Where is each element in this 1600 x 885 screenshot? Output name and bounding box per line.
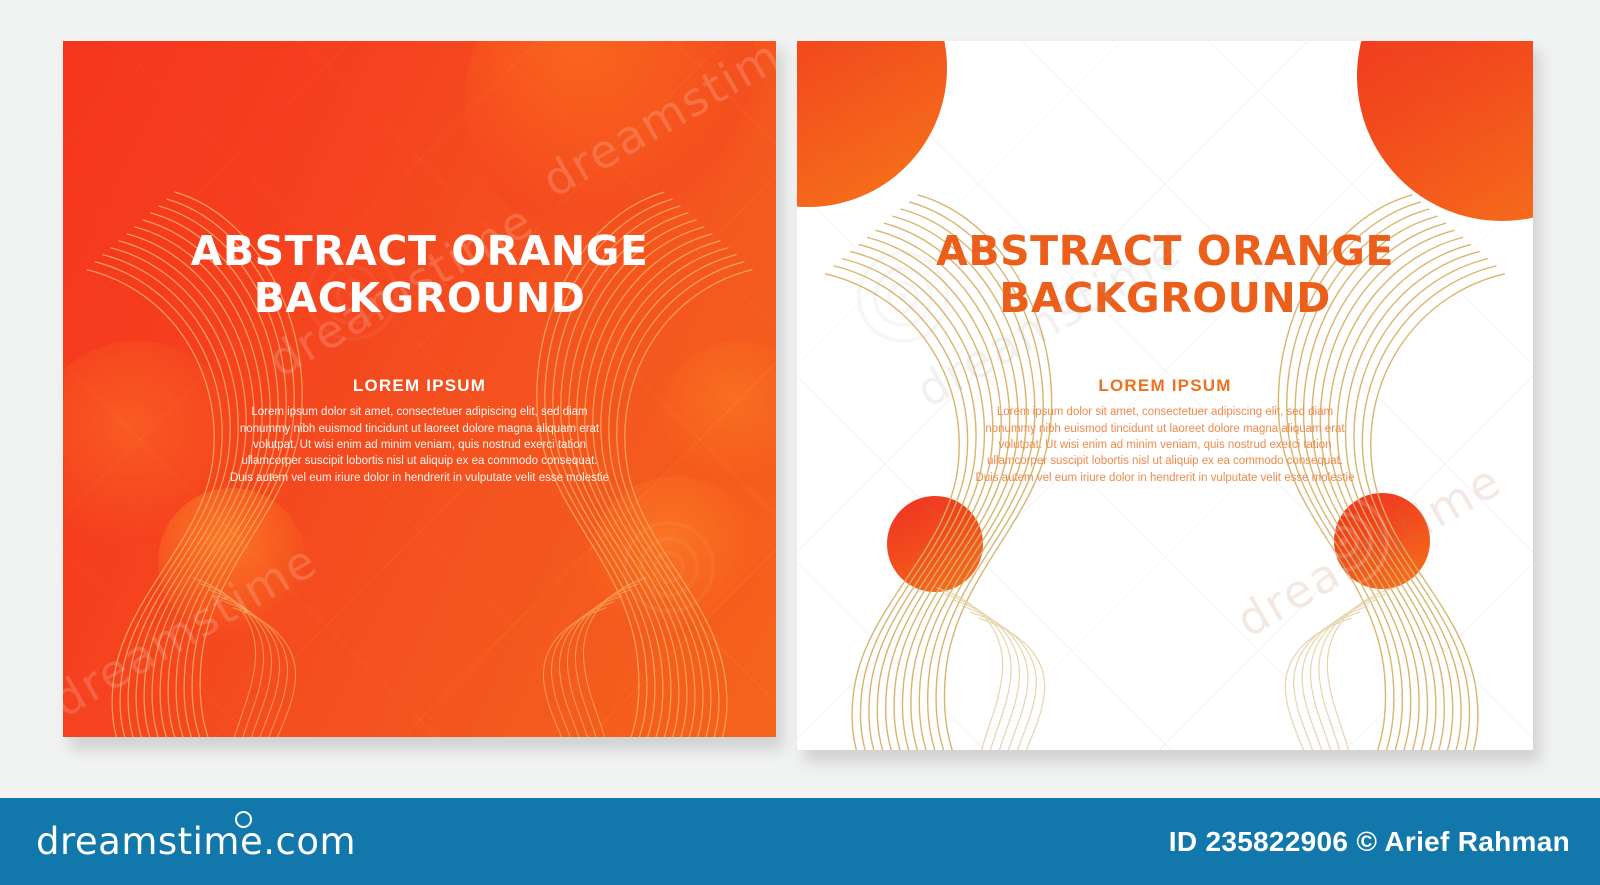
- headline-line-2: BACKGROUND: [63, 275, 776, 322]
- headline-line-1: ABSTRACT ORANGE: [797, 228, 1533, 275]
- orange-card-content: ABSTRACT ORANGE BACKGROUND LOREM IPSUM L…: [63, 228, 776, 486]
- white-card-headline: ABSTRACT ORANGE BACKGROUND: [797, 228, 1533, 322]
- image-credit: ID 235822906 © Arief Rahman: [1169, 826, 1570, 858]
- white-design-card[interactable]: ABSTRACT ORANGE BACKGROUND LOREM IPSUM L…: [797, 41, 1533, 750]
- spiral-logo-icon: [235, 811, 252, 828]
- tonal-circle-center-left: [158, 488, 306, 636]
- corner-circle-top-left: [797, 41, 947, 207]
- tonal-circle-right-mid: [588, 476, 764, 652]
- orange-card-sublabel: LOREM IPSUM: [63, 376, 776, 396]
- artboard: ABSTRACT ORANGE BACKGROUND LOREM IPSUM L…: [0, 0, 1600, 885]
- footer-logo-text: dreamstime.com: [36, 820, 356, 863]
- white-card-content: ABSTRACT ORANGE BACKGROUND LOREM IPSUM L…: [797, 228, 1533, 486]
- orange-card-headline: ABSTRACT ORANGE BACKGROUND: [63, 228, 776, 322]
- dreamstime-logo[interactable]: dreamstime.com: [30, 820, 356, 863]
- circle-mid-left: [887, 496, 983, 592]
- orange-card-body: Lorem ipsum dolor sit amet, consectetuer…: [230, 404, 610, 486]
- corner-circle-top-right: [1357, 41, 1533, 221]
- orange-design-card[interactable]: ABSTRACT ORANGE BACKGROUND LOREM IPSUM L…: [63, 41, 776, 737]
- headline-line-2: BACKGROUND: [797, 275, 1533, 322]
- circle-mid-right: [1334, 493, 1430, 589]
- white-card-sublabel: LOREM IPSUM: [797, 376, 1533, 396]
- footer-bar: dreamstime.com ID 235822906 © Arief Rahm…: [0, 798, 1600, 885]
- headline-line-1: ABSTRACT ORANGE: [63, 228, 776, 275]
- white-card-body: Lorem ipsum dolor sit amet, consectetuer…: [975, 404, 1355, 486]
